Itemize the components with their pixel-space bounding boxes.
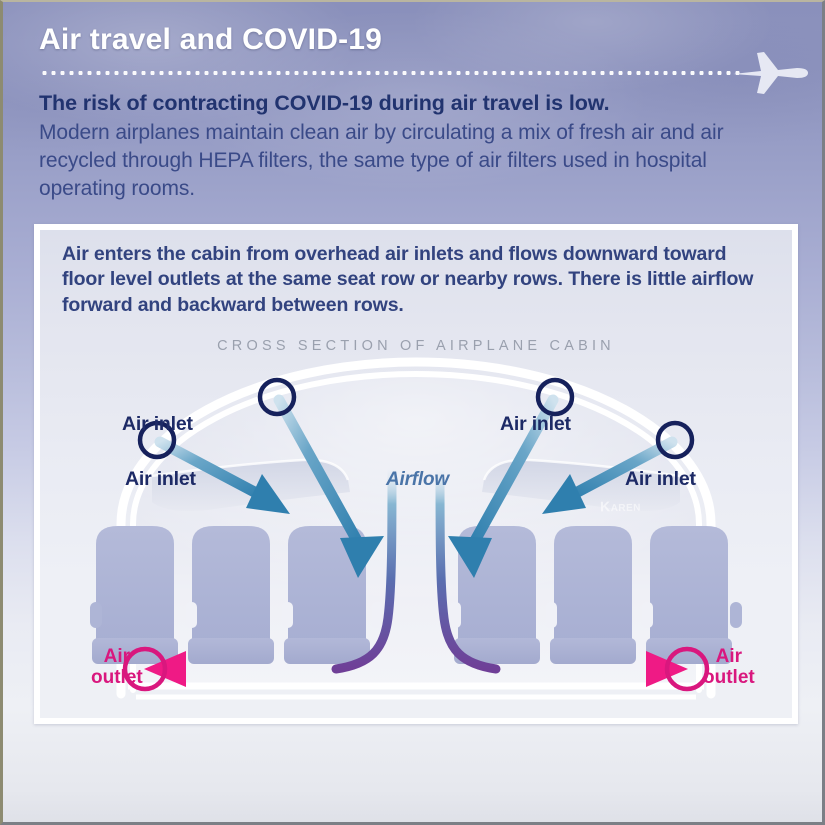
dotted-divider <box>40 71 740 75</box>
page-title: Air travel and COVID-19 <box>39 23 382 57</box>
seat <box>546 526 636 664</box>
label-air-inlet-top-left: Air inlet <box>122 413 193 436</box>
seat <box>186 526 274 664</box>
section-label: CROSS SECTION OF AIRPLANE CABIN <box>40 338 792 354</box>
footer: Stay seated whenever possible, and follo… <box>3 744 825 814</box>
label-air-inlet-mid-left: Air inlet <box>125 468 196 491</box>
label-air-outlet-right-line1: Air <box>703 647 755 668</box>
lead-heading: The risk of contracting COVID-19 during … <box>39 90 799 118</box>
seat-bank-left <box>90 526 383 664</box>
panel-description: Air enters the cabin from overhead air i… <box>62 242 774 318</box>
artist-watermark: Karen <box>600 498 641 515</box>
label-air-outlet-left-line2: outlet <box>91 668 143 689</box>
label-airflow: Airflow <box>386 469 449 491</box>
seat <box>90 526 178 664</box>
lead-paragraph: The risk of contracting COVID-19 during … <box>39 90 799 203</box>
seat <box>642 526 742 664</box>
header: Air travel and COVID-19 The risk of cont… <box>3 2 825 202</box>
cabin-cross-section <box>40 356 792 718</box>
lead-body: Modern airplanes maintain clean air by c… <box>39 119 799 203</box>
label-air-outlet-right: Air outlet <box>703 647 755 688</box>
seat-bank-right <box>450 526 742 664</box>
label-air-inlet-top-right: Air inlet <box>500 413 571 436</box>
label-air-outlet-right-line2: outlet <box>703 668 755 689</box>
label-air-outlet-left: Air outlet <box>91 647 143 688</box>
label-air-inlet-mid-right: Air inlet <box>625 468 696 491</box>
label-air-outlet-left-line1: Air <box>91 647 143 668</box>
infographic-poster: Air travel and COVID-19 The risk of cont… <box>0 0 825 825</box>
